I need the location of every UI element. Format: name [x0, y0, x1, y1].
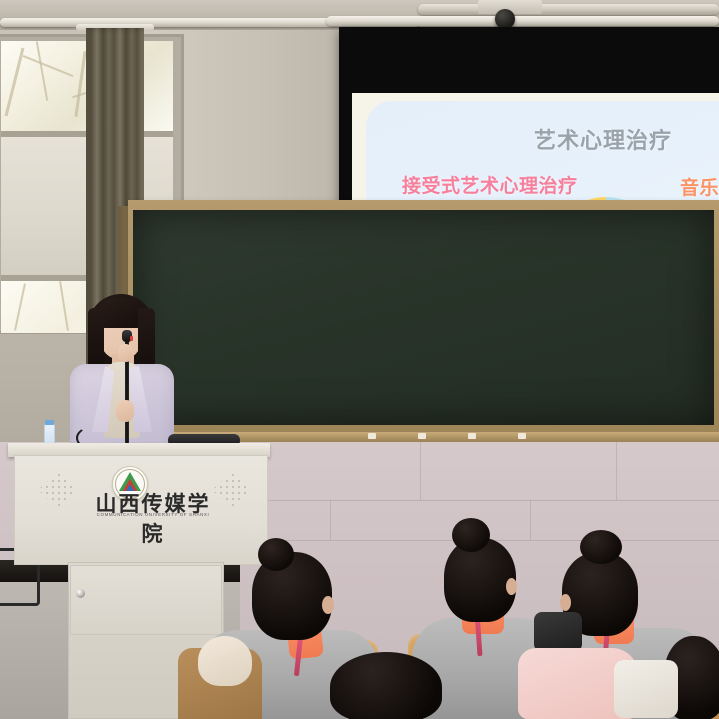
dome-camera-icon	[495, 9, 515, 29]
chalk-piece-2	[418, 433, 426, 439]
dark-bag	[534, 612, 582, 652]
podium-cabinet-door[interactable]	[70, 565, 222, 635]
presenter-hand-upper	[118, 344, 133, 362]
student-left-bun	[258, 538, 294, 571]
fur-collar	[198, 636, 252, 686]
chalk-piece-1	[368, 433, 376, 439]
blackboard	[133, 210, 714, 425]
water-bottle-cap	[45, 420, 54, 425]
presenter	[62, 292, 184, 452]
podium-name-en: COMMUNICATION UNIVERSITY OF SHANXI	[60, 512, 246, 517]
slide-title: 艺术心理治疗	[534, 123, 672, 155]
student-center-head	[444, 538, 516, 622]
ceiling-pipe-right	[326, 16, 719, 26]
chalk-piece-3	[468, 433, 476, 439]
student-left-ear	[322, 596, 334, 614]
presenter-hand-lower	[116, 400, 134, 422]
chalk-piece-4	[518, 433, 526, 439]
student-right-bun	[580, 530, 622, 564]
student-center-ear	[506, 578, 517, 595]
ceiling-pipe-rear	[418, 4, 719, 15]
podium-lock-icon[interactable]	[76, 589, 85, 598]
microphone-led	[130, 336, 133, 341]
student-right-ear	[560, 594, 571, 611]
slide-label-music-listening: 音乐聆	[680, 173, 719, 200]
lecture-hall-photo: 艺术心理治疗 接受式艺术心理治疗 音乐聆 舞动心 即兴音乐演奏 心理剧	[0, 0, 719, 719]
podium-name-cn: 山西传媒学院	[88, 488, 218, 548]
blackboard-frame	[128, 200, 719, 435]
student-center-bun	[452, 518, 490, 552]
white-bag	[614, 660, 678, 718]
slide-label-receptive: 接受式艺术心理治疗	[402, 171, 578, 198]
student-front-center-head	[330, 652, 442, 719]
